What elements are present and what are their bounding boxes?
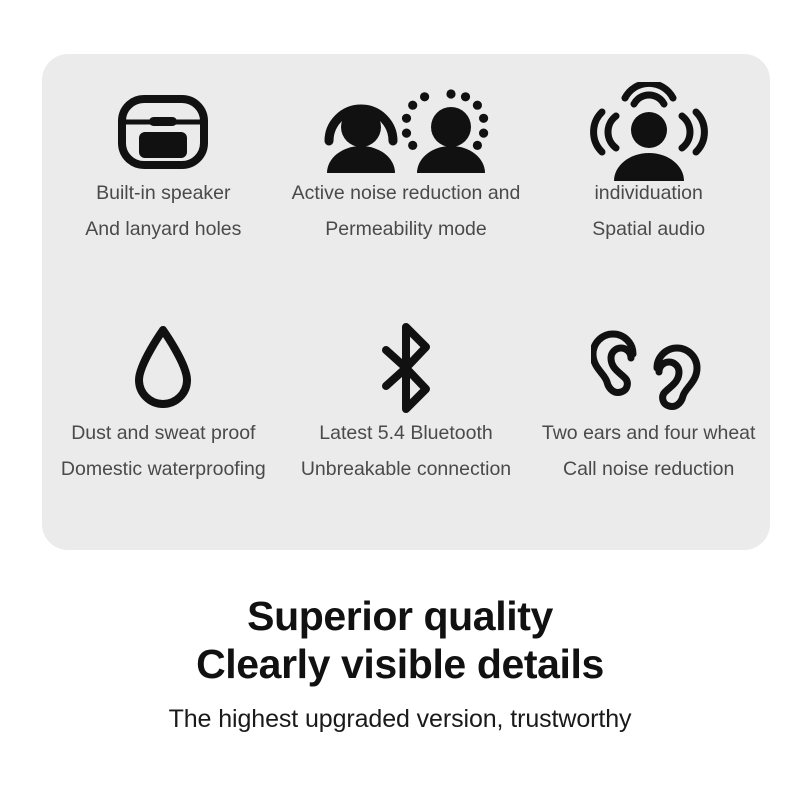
icon-container xyxy=(590,80,708,184)
feature-text: Dust and sweat proof Domestic waterproof… xyxy=(61,424,266,479)
feature-text: Built-in speaker And lanyard holes xyxy=(85,184,241,239)
feature-text: individuation Spatial audio xyxy=(592,184,705,239)
feature-line-2: Unbreakable connection xyxy=(301,460,511,480)
person-arc-glyph xyxy=(327,107,395,173)
feature-text: Two ears and four wheat Call noise reduc… xyxy=(542,424,756,479)
bluetooth-icon xyxy=(373,321,439,415)
earbuds-case-icon xyxy=(117,94,209,170)
ear-left-glyph xyxy=(593,334,633,393)
headline-block: Superior quality Clearly visible details… xyxy=(0,592,800,734)
feature-line-2: Spatial audio xyxy=(592,220,705,240)
feature-line-1: Built-in speaker xyxy=(85,184,241,204)
feature-line-2: Domestic waterproofing xyxy=(61,460,266,480)
icon-container xyxy=(313,80,499,184)
feature-item-bluetooth: Latest 5.4 Bluetooth Unbreakable connect… xyxy=(285,302,528,550)
icon-container xyxy=(117,80,209,184)
feature-line-2: Call noise reduction xyxy=(542,460,756,480)
spatial-audio-person-icon xyxy=(590,82,708,182)
feature-line-1: Dust and sweat proof xyxy=(61,424,266,444)
noise-reduction-persons-icon xyxy=(313,89,499,175)
feature-grid: Built-in speaker And lanyard holes xyxy=(42,54,770,550)
headline-line-2: Clearly visible details xyxy=(0,640,800,688)
headline-line-1: Superior quality xyxy=(0,592,800,640)
feature-item-spatial-audio: individuation Spatial audio xyxy=(527,54,770,302)
feature-item-two-ears: Two ears and four wheat Call noise reduc… xyxy=(527,302,770,550)
feature-line-2: And lanyard holes xyxy=(85,220,241,240)
feature-text: Active noise reduction and Permeability … xyxy=(292,184,521,239)
feature-line-1: Two ears and four wheat xyxy=(542,424,756,444)
two-ears-icon xyxy=(591,320,707,416)
icon-container xyxy=(132,312,194,424)
person-dotted-glyph xyxy=(402,89,488,173)
feature-item-built-in-speaker: Built-in speaker And lanyard holes xyxy=(42,54,285,302)
ear-right-glyph xyxy=(657,348,697,407)
subheadline: The highest upgraded version, trustworth… xyxy=(0,705,800,734)
icon-container xyxy=(591,312,707,424)
feature-item-noise-reduction: Active noise reduction and Permeability … xyxy=(285,54,528,302)
water-droplet-icon xyxy=(132,324,194,412)
feature-line-1: individuation xyxy=(592,184,705,204)
feature-line-1: Active noise reduction and xyxy=(292,184,521,204)
feature-line-1: Latest 5.4 Bluetooth xyxy=(301,424,511,444)
icon-container xyxy=(373,312,439,424)
feature-card: Built-in speaker And lanyard holes xyxy=(42,54,770,550)
feature-item-waterproof: Dust and sweat proof Domestic waterproof… xyxy=(42,302,285,550)
feature-line-2: Permeability mode xyxy=(292,220,521,240)
feature-text: Latest 5.4 Bluetooth Unbreakable connect… xyxy=(301,424,511,479)
